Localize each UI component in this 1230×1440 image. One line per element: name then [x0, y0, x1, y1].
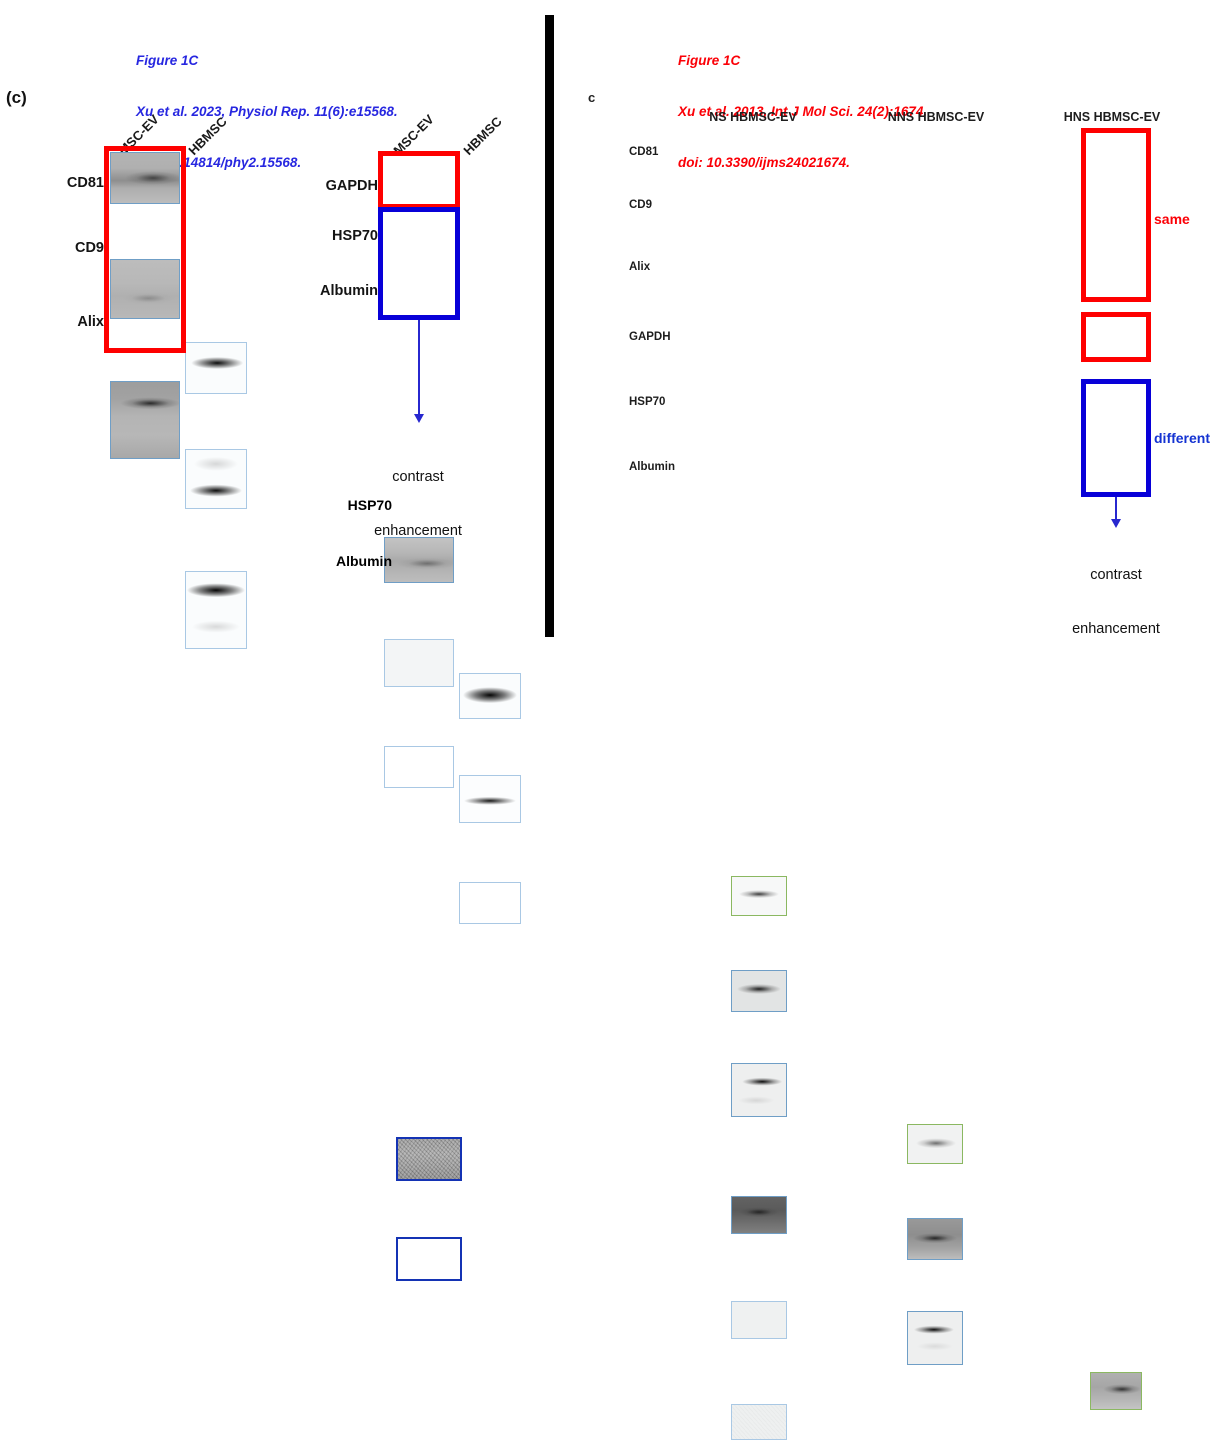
right-row-label-gapdh: GAPDH: [629, 331, 671, 343]
right-ce-line-2: enhancement: [1036, 620, 1196, 638]
right-blot-ns-hsp70: [731, 1301, 787, 1339]
band: [111, 382, 179, 458]
right-row-label-hsp70: HSP70: [629, 396, 665, 408]
left-group1-blot-cd81-hbmsc: [185, 342, 247, 394]
right-contrast-enhancement-caption: contrast enhancement: [1036, 530, 1196, 656]
left-group2-row-label-gapdh: GAPDH: [258, 178, 378, 194]
left-ce-row-label-hsp70: HSP70: [272, 497, 392, 513]
left-ce-line-2: enhancement: [338, 522, 498, 540]
right-contrast-arrow-head: [1111, 519, 1121, 528]
left-group2-row-label-hsp70: HSP70: [258, 228, 378, 244]
band: [732, 971, 786, 1011]
band: [460, 674, 520, 718]
left-caption-line-1: Figure 1C: [136, 52, 398, 69]
right-blot-nns-cd9: [907, 1218, 963, 1260]
band: [908, 1125, 962, 1163]
left-group2-blue-highlight-box: [378, 207, 460, 320]
left-group2-blot-hsp70-hbmsc: [459, 775, 521, 823]
left-ce-row-label-albumin: Albumin: [262, 553, 392, 569]
left-ce-line-1: contrast: [338, 468, 498, 486]
left-contrast-arrow-line: [418, 320, 420, 416]
right-row-label-alix: Alix: [629, 261, 650, 273]
right-figure-caption: Figure 1C Xu et al. 2013, Int J Mol Sci.…: [678, 18, 927, 188]
left-group1-blot-alix-msc-ev: [110, 381, 180, 459]
left-ce-blot-albumin: [396, 1237, 462, 1281]
vertical-divider: [545, 15, 554, 637]
left-group2-column-header-hbmsc: HBMSC: [460, 114, 504, 158]
left-group2-blot-gapdh-hbmsc: [459, 673, 521, 719]
right-blot-nns-cd81: [907, 1124, 963, 1164]
right-row-label-cd9: CD9: [629, 199, 652, 211]
band: [460, 776, 520, 822]
right-blot-ns-albumin: [731, 1404, 787, 1440]
right-column-header-hns: HNS HBMSC-EV: [1042, 110, 1182, 124]
left-group2-blot-hsp70-msc-ev: [384, 639, 454, 687]
right-contrast-arrow-line: [1115, 497, 1117, 521]
right-blot-nns-alix: [907, 1311, 963, 1365]
band: [908, 1219, 962, 1259]
band: [732, 1197, 786, 1233]
left-group1-red-highlight-box: [104, 146, 186, 353]
right-annotation-different: different: [1154, 430, 1210, 446]
left-contrast-enhancement-caption: contrast enhancement: [338, 432, 498, 558]
left-group1-row-label-alix: Alix: [0, 314, 104, 330]
right-blot-hns-cd81: [1090, 1372, 1142, 1410]
right-blot-ns-cd9: [731, 970, 787, 1012]
left-group1-row-label-cd81: CD81: [0, 175, 104, 191]
right-red-highlight-box-top: [1081, 128, 1151, 302]
band: [732, 877, 786, 915]
right-blot-ns-gapdh: [731, 1196, 787, 1234]
band: [186, 450, 246, 508]
right-blot-ns-cd81: [731, 876, 787, 916]
left-contrast-arrow-head: [414, 414, 424, 423]
band: [732, 1064, 786, 1116]
right-blot-ns-alix: [731, 1063, 787, 1117]
right-column-header-ns: NS HBMSC-EV: [688, 110, 818, 124]
right-ce-line-1: contrast: [1036, 566, 1196, 584]
right-column-header-nns: NNS HBMSC-EV: [866, 110, 1006, 124]
right-annotation-same: same: [1154, 211, 1190, 227]
left-group2-row-label-albumin: Albumin: [248, 283, 378, 299]
right-caption-line-3: doi: 10.3390/ijms24021674.: [678, 154, 927, 171]
right-panel-letter: c: [588, 90, 595, 105]
left-group2-blot-albumin-hbmsc: [459, 882, 521, 924]
right-row-label-cd81: CD81: [629, 146, 658, 158]
left-panel-letter: (c): [6, 88, 27, 108]
left-group1-row-label-cd9: CD9: [0, 240, 104, 256]
band: [908, 1312, 962, 1364]
right-caption-line-1: Figure 1C: [678, 52, 927, 69]
band: [186, 343, 246, 393]
left-group2-red-highlight-box: [378, 151, 460, 209]
right-red-highlight-box-gapdh: [1081, 312, 1151, 362]
right-blue-highlight-box: [1081, 379, 1151, 497]
left-group2-blot-albumin-msc-ev: [384, 746, 454, 788]
band: [186, 572, 246, 648]
right-row-label-albumin: Albumin: [629, 461, 675, 473]
left-caption-line-2: Xu et al. 2023, Physiol Rep. 11(6):e1556…: [136, 103, 398, 120]
band: [1091, 1373, 1141, 1409]
left-group1-blot-alix-hbmsc: [185, 571, 247, 649]
left-group1-blot-cd9-hbmsc: [185, 449, 247, 509]
left-ce-blot-hsp70: [396, 1137, 462, 1181]
